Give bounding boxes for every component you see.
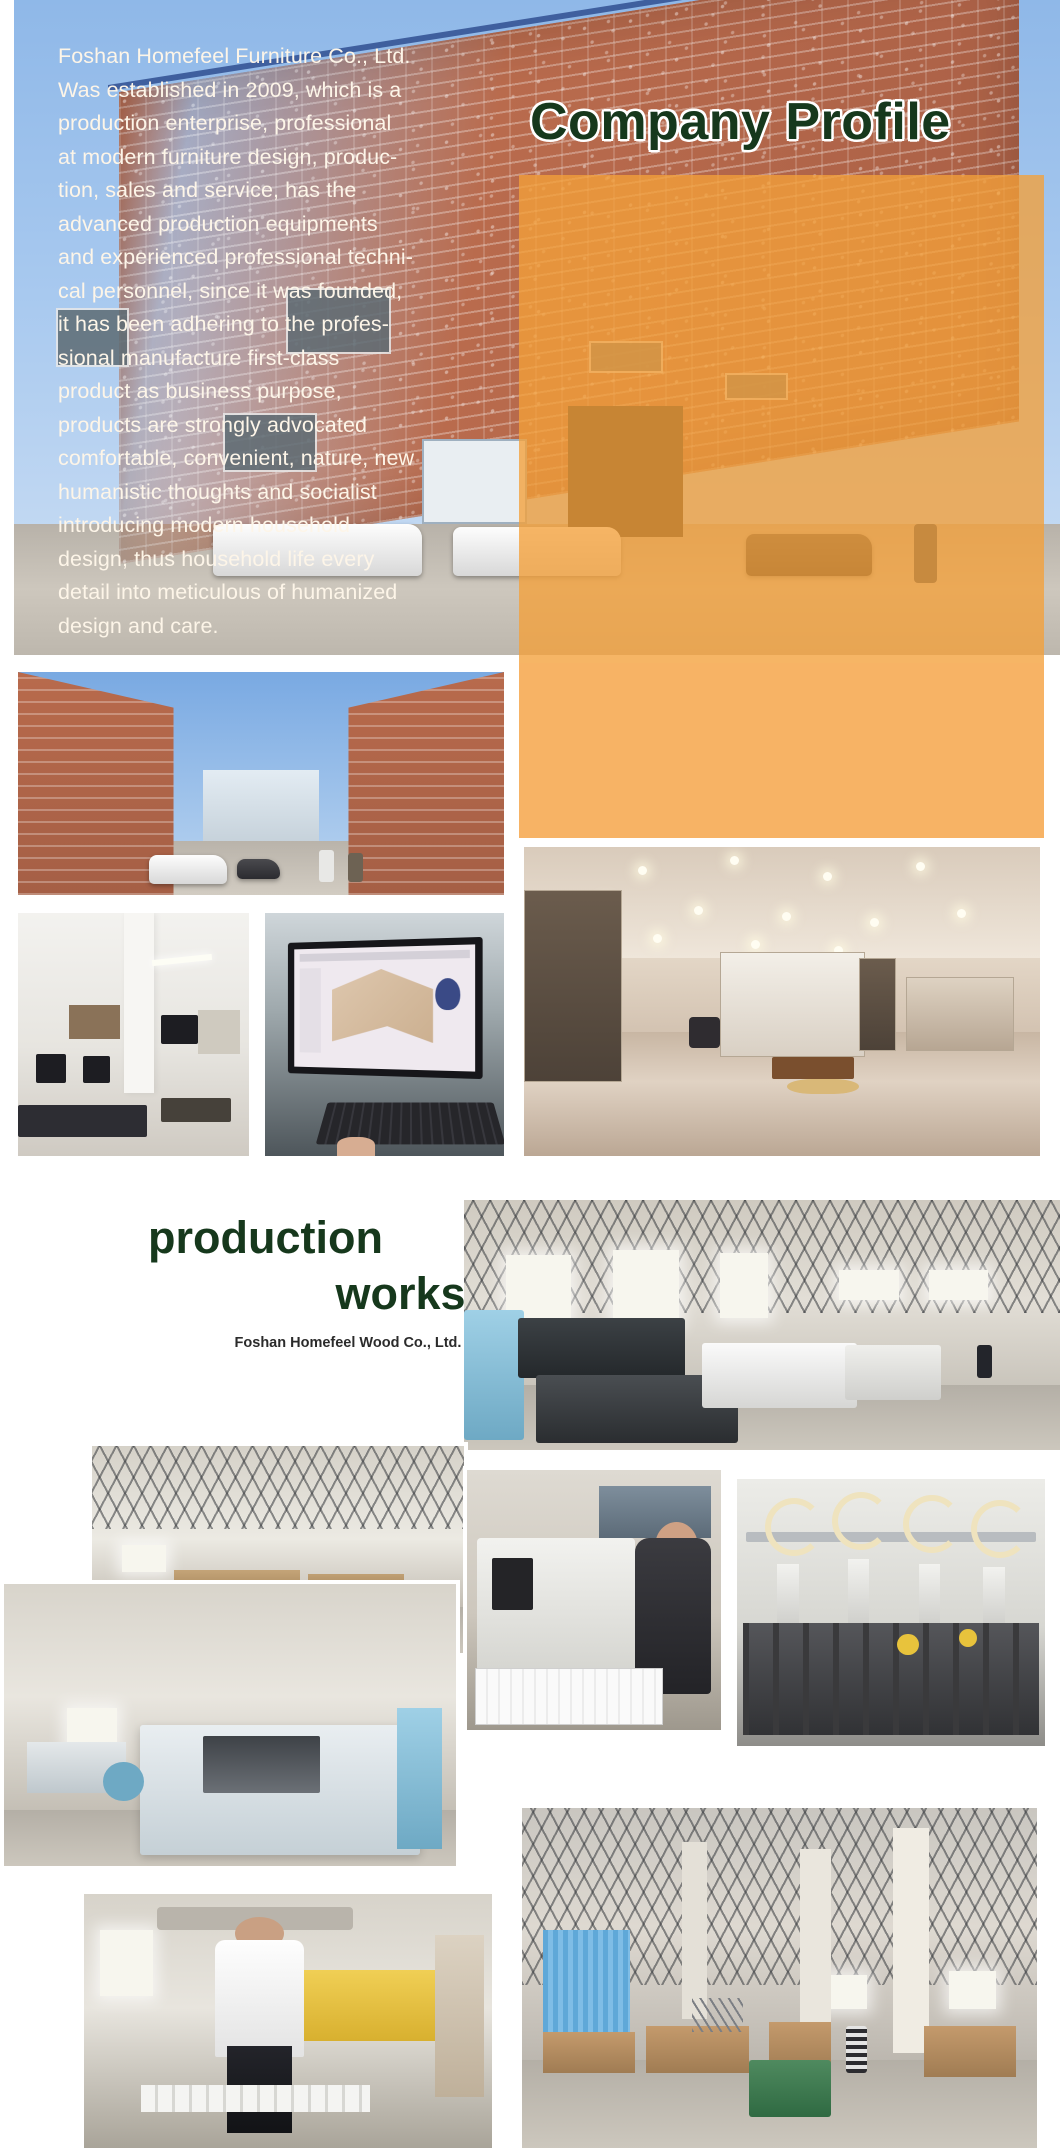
production-workshop-section: production workshop Foshan Homefeel Wood… bbox=[0, 1180, 1060, 2152]
office-desk bbox=[18, 1105, 147, 1137]
structural-column bbox=[124, 913, 154, 1093]
hall-window bbox=[100, 1930, 153, 1996]
worker bbox=[977, 1345, 992, 1378]
edge-banding-machine-photo bbox=[0, 1580, 460, 1870]
fan bbox=[103, 1762, 144, 1801]
ceiling-downlight bbox=[653, 934, 662, 943]
pedestrian bbox=[348, 853, 363, 882]
pneumatic-cylinder bbox=[848, 1559, 870, 1628]
glass-door-cabinet bbox=[859, 958, 895, 1051]
office-interior-photo bbox=[14, 909, 253, 1160]
ceiling-downlight bbox=[870, 918, 879, 927]
distant-building bbox=[203, 770, 320, 850]
showroom-photo bbox=[520, 843, 1044, 1160]
furniture-3d-model bbox=[331, 968, 432, 1043]
operator-white-coat bbox=[215, 1940, 305, 2057]
air-hose-coil bbox=[903, 1495, 961, 1553]
dark-car bbox=[237, 859, 281, 879]
hall-window bbox=[122, 1545, 167, 1572]
pneumatic-cylinder bbox=[919, 1564, 941, 1628]
stacked-cartons bbox=[543, 2032, 636, 2073]
ceiling-downlight bbox=[823, 872, 832, 881]
mascot-graphic bbox=[435, 977, 460, 1010]
display-cabinet bbox=[524, 890, 622, 1082]
round-table bbox=[787, 1079, 859, 1094]
storage-shelf bbox=[198, 1010, 240, 1054]
panel-saw-operator-photo bbox=[463, 1466, 725, 1734]
profile-text-panel bbox=[519, 175, 1044, 838]
page-title: Company Profile bbox=[530, 92, 951, 152]
packaging-warehouse-photo bbox=[518, 1804, 1041, 2152]
stacked-cartons bbox=[924, 2026, 1017, 2077]
stairway bbox=[692, 1998, 744, 2032]
control-cabinet bbox=[464, 1310, 524, 1440]
concrete-column bbox=[682, 1842, 708, 2019]
hand bbox=[337, 1137, 375, 1156]
sofa bbox=[689, 1017, 720, 1048]
workshop-title-line1: production bbox=[148, 1212, 383, 1263]
pneumatic-cylinder bbox=[983, 1567, 1005, 1628]
sliding-table-saw-photo bbox=[80, 1890, 496, 2152]
company-profile-section: Foshan Homefeel Furniture Co., Ltd. Was … bbox=[0, 0, 1060, 1180]
worker bbox=[846, 2026, 867, 2074]
production-line-machine bbox=[702, 1343, 857, 1408]
warehouse-window bbox=[949, 1971, 995, 2008]
hall-window bbox=[929, 1270, 989, 1300]
hall-window bbox=[839, 1270, 899, 1300]
pneumatic-cylinder bbox=[777, 1564, 799, 1628]
saw-sliding-table bbox=[141, 2085, 369, 2113]
monitor-screen bbox=[288, 937, 483, 1079]
cad-design-monitor-photo bbox=[261, 909, 508, 1160]
hall-window bbox=[720, 1253, 768, 1318]
production-line-machine bbox=[845, 1345, 940, 1400]
wardrobe-display bbox=[906, 977, 1014, 1051]
software-toolbar bbox=[299, 949, 469, 962]
storage-shelf bbox=[69, 1005, 120, 1039]
blue-corrugated-panel bbox=[543, 1930, 631, 2046]
concrete-column bbox=[800, 1849, 831, 2039]
carton-stitching-machine bbox=[749, 2060, 831, 2118]
ceiling-downlight bbox=[751, 940, 760, 949]
desktop-monitor bbox=[83, 1056, 111, 1083]
software-sidebar bbox=[299, 967, 321, 1053]
machine-touchscreen bbox=[492, 1558, 533, 1610]
workshop-hall-photo bbox=[464, 1200, 1060, 1450]
wall-monitor bbox=[161, 1015, 198, 1044]
press-frame bbox=[743, 1623, 1039, 1735]
office-desk bbox=[161, 1098, 230, 1122]
stacked-cartons bbox=[646, 2026, 749, 2074]
saw-feed-table bbox=[475, 1668, 663, 1725]
air-hose-coil bbox=[765, 1498, 823, 1556]
pneumatic-press-photo bbox=[733, 1475, 1049, 1750]
factory-alley-photo bbox=[14, 668, 508, 899]
profile-body-text: Foshan Homefeel Furniture Co., Ltd. Was … bbox=[58, 40, 488, 643]
control-cabinet bbox=[397, 1708, 442, 1849]
steel-roof-truss bbox=[92, 1446, 464, 1529]
hall-window bbox=[613, 1250, 679, 1325]
right-building-wall bbox=[348, 672, 504, 895]
stacked-boards bbox=[435, 1935, 484, 2098]
concrete-column bbox=[893, 1828, 929, 2052]
wall-unit-display bbox=[720, 952, 864, 1057]
wooden-bench bbox=[772, 1057, 855, 1079]
machine-hood bbox=[203, 1736, 321, 1792]
desktop-monitor bbox=[36, 1054, 66, 1083]
cnc-machine-head bbox=[518, 1318, 685, 1378]
ceiling-downlight bbox=[782, 912, 791, 921]
white-suv bbox=[149, 855, 227, 884]
yellow-roller bbox=[897, 1634, 919, 1655]
pedestrian bbox=[319, 850, 334, 881]
wall-poster bbox=[599, 1486, 711, 1538]
ceiling-downlight bbox=[638, 866, 647, 875]
ceiling-downlight bbox=[694, 906, 703, 915]
